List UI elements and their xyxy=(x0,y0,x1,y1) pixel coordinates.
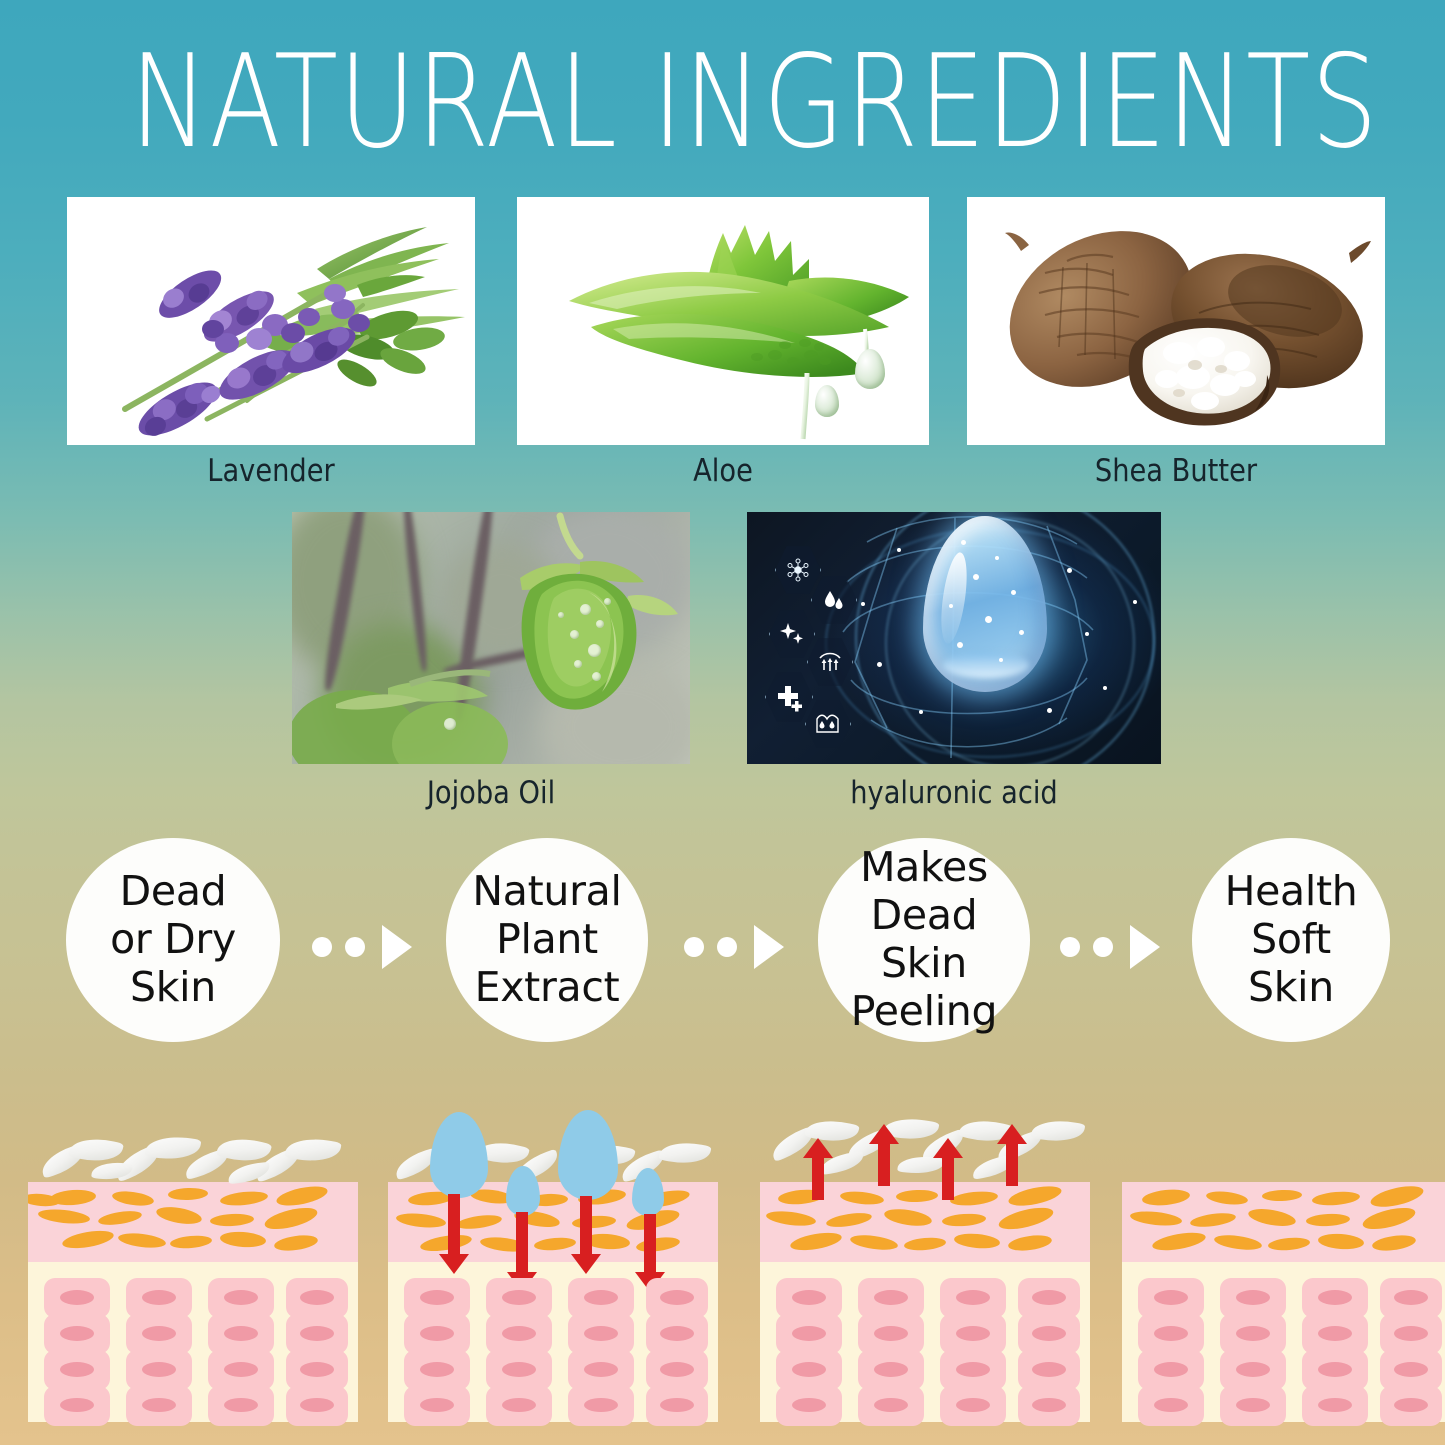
arrow-dot-icon xyxy=(1060,937,1080,957)
epidermis-layer xyxy=(1122,1182,1445,1262)
page-title: NATURAL INGREDIENTS xyxy=(130,36,1315,170)
sparkle-particle xyxy=(999,658,1003,662)
peeling-arrow-up xyxy=(933,1138,963,1158)
ingredient-card-aloe xyxy=(517,197,929,445)
sparkle-particle xyxy=(1011,590,1016,595)
aloe-photo xyxy=(517,197,929,445)
jojoba-oil-photo xyxy=(292,512,690,764)
ingredient-card-jojoba-oil xyxy=(292,512,690,764)
sparkle-particle xyxy=(897,548,901,552)
sparkle-particle xyxy=(919,710,923,714)
arrow-right-icon xyxy=(1130,925,1160,969)
water-droplet-large xyxy=(430,1112,488,1198)
ingredient-label-lavender: Lavender xyxy=(91,453,450,489)
shea-butter-open xyxy=(1129,318,1280,425)
ingredient-card-shea-butter xyxy=(967,197,1385,445)
jojoba-plant xyxy=(292,512,690,764)
arrow-dot-icon xyxy=(684,937,704,957)
aloe-gel-drop-small xyxy=(815,385,839,417)
process-step-dead-or-dry-skin: Dead or Dry Skin xyxy=(66,838,280,1042)
process-step-line: Plant xyxy=(496,915,598,963)
peeling-arrow-up xyxy=(1006,1142,1018,1186)
sparkle-particle xyxy=(1019,630,1024,635)
process-step-line: Natural xyxy=(472,867,621,915)
process-step-line: Skin xyxy=(130,963,216,1011)
sparkle-particle xyxy=(1133,600,1137,604)
arrow-right-icon xyxy=(754,925,784,969)
jojoba-dew-drop xyxy=(570,630,579,639)
process-arrow-3 xyxy=(1060,925,1160,969)
hyaluronic-acid-photo xyxy=(747,512,1161,764)
sparkle-particle xyxy=(995,556,999,560)
sparkle-particle xyxy=(973,574,979,580)
process-step-line: Peeling xyxy=(851,987,997,1035)
jojoba-dew-drop xyxy=(596,620,604,628)
jojoba-dew-drop xyxy=(588,644,601,657)
penetration-arrow-down xyxy=(580,1196,592,1256)
peeling-arrow-up xyxy=(803,1138,833,1158)
jojoba-dew-drop xyxy=(592,672,601,681)
process-step-line: Dead Skin xyxy=(871,891,978,987)
process-step-line: Soft xyxy=(1251,915,1331,963)
dead-skin-flake xyxy=(658,1138,711,1168)
shea-butter-photo xyxy=(967,197,1385,445)
process-step-line: Skin xyxy=(1248,963,1334,1011)
ingredient-label-shea-butter: Shea Butter xyxy=(992,453,1360,489)
sparkle-particle xyxy=(1103,686,1107,690)
lavender-illustration xyxy=(67,197,475,445)
aloe-gel-strand xyxy=(803,373,807,439)
ingredient-label-aloe: Aloe xyxy=(542,453,905,489)
skin-diagram-dry-flaking-skin xyxy=(28,1110,358,1422)
skin-diagram-hydration-penetration xyxy=(388,1110,718,1422)
skin-diagram-healthy-soft-skin xyxy=(1122,1110,1445,1422)
process-step-line: or Dry xyxy=(110,915,236,963)
process-arrow-1 xyxy=(312,925,412,969)
process-step-natural-plant-extract: Natural Plant Extract xyxy=(446,838,648,1042)
arrow-dot-icon xyxy=(717,937,737,957)
arrow-right-icon xyxy=(382,925,412,969)
aloe-illustration xyxy=(517,197,929,445)
peeling-arrow-up xyxy=(878,1142,890,1186)
sparkle-particle xyxy=(949,604,953,608)
epidermis-layer xyxy=(760,1182,1090,1262)
arrow-dot-icon xyxy=(1093,937,1113,957)
peeling-arrow-up xyxy=(869,1124,899,1144)
process-step-health-soft-skin: Health Soft Skin xyxy=(1192,838,1390,1042)
process-step-line: Extract xyxy=(475,963,620,1011)
jojoba-dew-drop xyxy=(558,612,564,618)
water-droplet-large xyxy=(558,1110,618,1200)
process-arrow-2 xyxy=(684,925,784,969)
penetration-arrow-down xyxy=(644,1214,656,1274)
sparkle-particle xyxy=(877,662,882,667)
jojoba-dew-drop xyxy=(574,660,582,668)
penetration-arrow-down xyxy=(571,1254,601,1274)
sparkle-particle xyxy=(1047,708,1052,713)
ingredient-label-hyaluronic-acid: hyaluronic acid xyxy=(772,775,1136,811)
penetration-arrow-down xyxy=(439,1254,469,1274)
ingredient-label-jojoba-oil: Jojoba Oil xyxy=(316,775,666,811)
lavender-flowers xyxy=(131,262,370,445)
peeling-arrow-up xyxy=(997,1124,1027,1144)
jojoba-dew-drop xyxy=(580,604,591,615)
sparkle-particle xyxy=(861,602,865,606)
peeling-arrow-up xyxy=(812,1156,824,1200)
sparkle-particle xyxy=(957,642,963,648)
sparkle-particle xyxy=(961,540,966,545)
jojoba-dew-drop xyxy=(444,718,456,730)
penetration-arrow-down xyxy=(448,1194,460,1256)
process-step-line: Makes xyxy=(860,843,988,891)
sparkle-particle xyxy=(1085,632,1089,636)
skin-diagram-dead-skin-peeling xyxy=(760,1110,1090,1422)
dead-skin-flake xyxy=(227,1162,271,1184)
sparkle-particle xyxy=(1067,568,1072,573)
process-step-line: Health xyxy=(1225,867,1358,915)
ingredient-card-lavender xyxy=(67,197,475,445)
arrow-dot-icon xyxy=(345,937,365,957)
epidermis-layer xyxy=(388,1182,718,1262)
water-droplet-small xyxy=(632,1168,664,1216)
droplet-bottom-shine xyxy=(943,652,1029,678)
penetration-arrow-down xyxy=(516,1212,528,1274)
ingredient-card-hyaluronic-acid xyxy=(747,512,1161,764)
infographic-poster: NATURAL INGREDIENTS xyxy=(0,0,1445,1445)
sparkle-particle xyxy=(985,616,992,623)
arrow-dot-icon xyxy=(312,937,332,957)
process-step-line: Dead xyxy=(120,867,227,915)
jojoba-dew-drop xyxy=(604,598,611,605)
peeling-arrow-up xyxy=(942,1156,954,1200)
lavender-photo xyxy=(67,197,475,445)
process-step-makes-dead-skin-peeling: Makes Dead Skin Peeling xyxy=(818,838,1030,1042)
epidermis-layer xyxy=(28,1182,358,1262)
shea-illustration xyxy=(967,197,1385,445)
